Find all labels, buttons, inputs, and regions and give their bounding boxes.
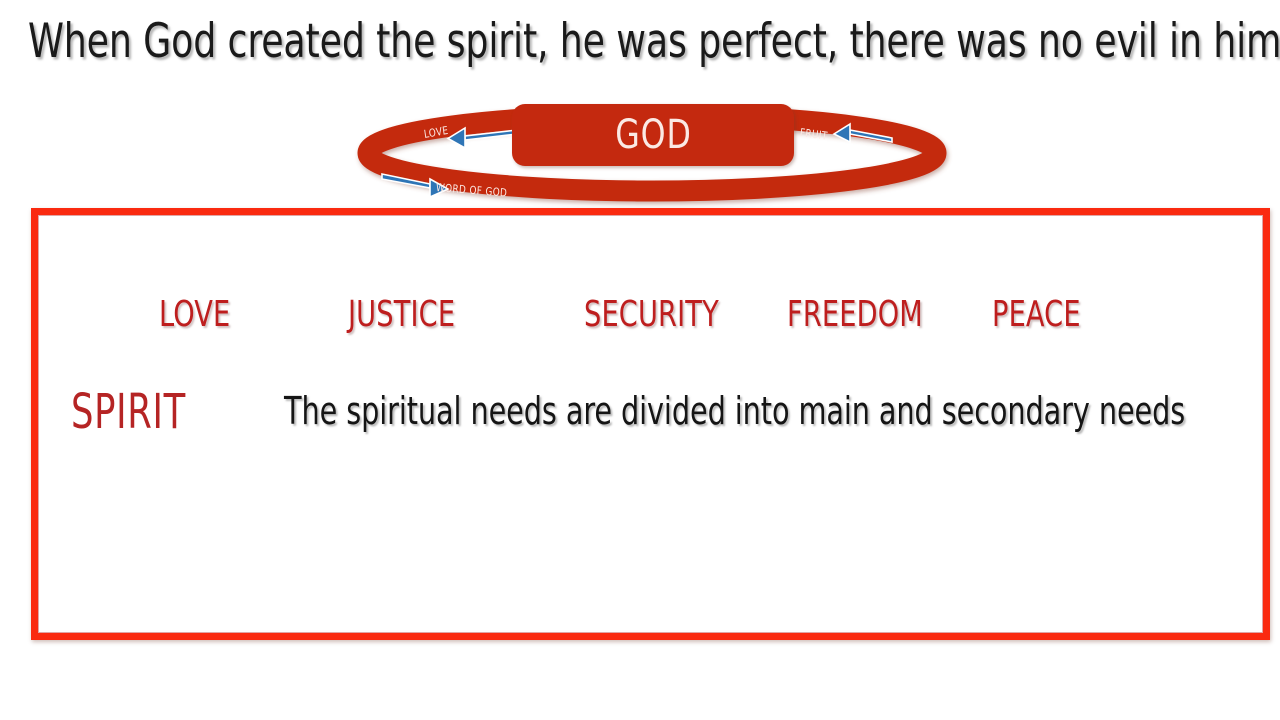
god-cycle-diagram: GOD LOVE FRUIT WORD OF GOD <box>352 96 952 208</box>
need-item-love: LOVE <box>159 294 230 335</box>
need-item-security: SECURITY <box>584 294 719 335</box>
need-item-peace: PEACE <box>992 294 1081 335</box>
spirit-description: The spiritual needs are divided into mai… <box>284 389 1185 433</box>
spirit-label: SPIRIT <box>71 384 186 440</box>
needs-row: LOVE JUSTICE SECURITY FREEDOM PEACE <box>39 294 1262 346</box>
need-item-freedom: FREEDOM <box>787 294 923 335</box>
page-title: When God created the spirit, he was perf… <box>28 12 1105 72</box>
spiritual-needs-panel: LOVE JUSTICE SECURITY FREEDOM PEACE SPIR… <box>31 208 1270 640</box>
need-item-justice: JUSTICE <box>348 294 455 335</box>
god-label: GOD <box>615 112 692 158</box>
god-box: GOD <box>512 104 794 166</box>
panel-inner-frame: LOVE JUSTICE SECURITY FREEDOM PEACE SPIR… <box>38 215 1263 633</box>
spirit-row: SPIRIT The spiritual needs are divided i… <box>39 384 1262 446</box>
